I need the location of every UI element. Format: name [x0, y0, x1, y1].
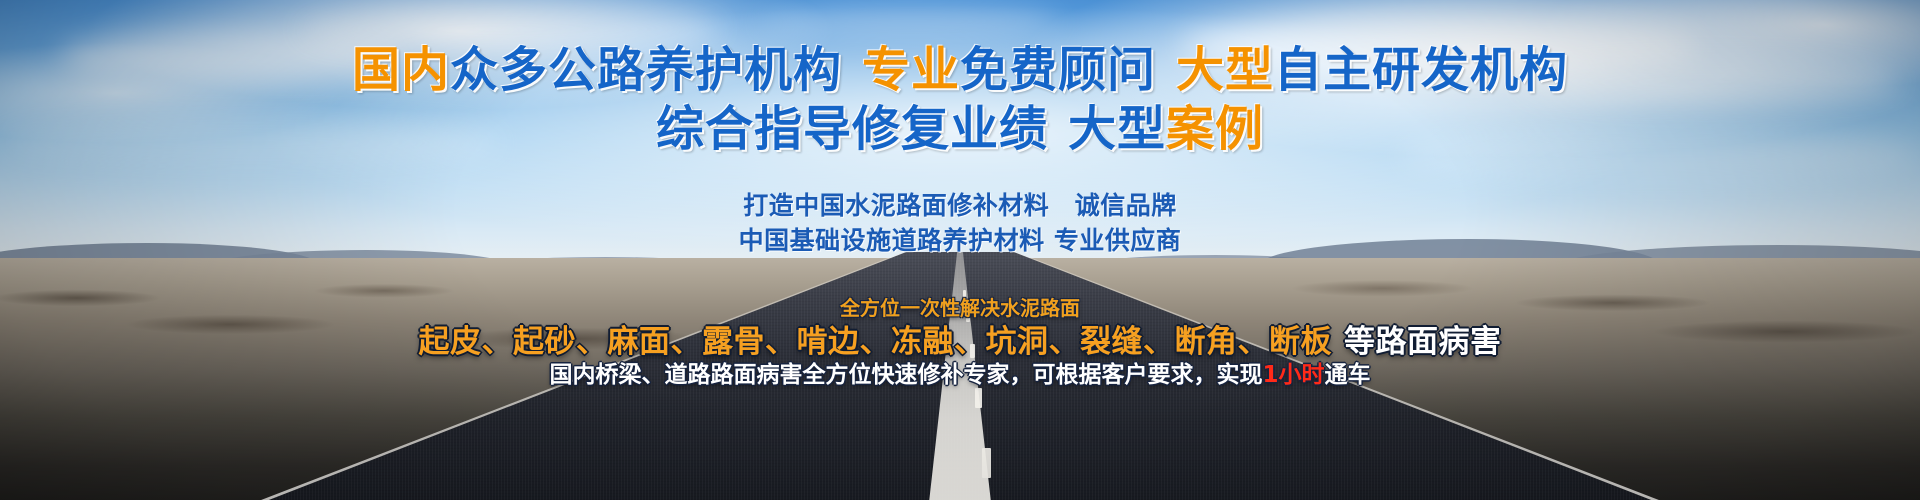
headline1-seg-4: 大型	[1176, 42, 1274, 98]
headline-line-1: 国内众多公路养护机构专业免费顾问大型自主研发机构	[0, 42, 1920, 98]
headline1-seg-2: 专业	[862, 42, 960, 98]
headline1-seg-1: 众多公路养护机构	[450, 42, 842, 98]
claim-highlight-duration: 1小时	[1262, 362, 1324, 388]
claim-part-0: 国内桥梁、道路路面病害全方位快速修补专家，可根据客户要求，实现	[549, 362, 1262, 388]
headline1-seg-5: 自主研发机构	[1274, 42, 1568, 98]
headline2-seg-0: 综合指导修复业绩	[656, 101, 1048, 157]
bottom-claim-text: 国内桥梁、道路路面病害全方位快速修补专家，可根据客户要求，实现1小时通车	[0, 355, 1920, 389]
headline1-seg-0: 国内	[352, 42, 450, 98]
subtitle-line-1: 打造中国水泥路面修补材料 诚信品牌	[0, 191, 1920, 221]
promo-banner: 国内众多公路养护机构专业免费顾问大型自主研发机构 综合指导修复业绩大型案例 打造…	[0, 0, 1920, 500]
claim-part-2: 通车	[1325, 362, 1371, 388]
headline1-seg-3: 免费顾问	[960, 42, 1156, 98]
headline2-seg-1: 大型	[1068, 101, 1166, 157]
headline-line-2: 综合指导修复业绩大型案例	[0, 101, 1920, 157]
banner-content: 国内众多公路养护机构专业免费顾问大型自主研发机构 综合指导修复业绩大型案例 打造…	[0, 0, 1920, 500]
headline2-seg-2: 案例	[1166, 101, 1264, 157]
subtitle-line-2: 中国基础设施道路养护材料 专业供应商	[0, 226, 1920, 256]
